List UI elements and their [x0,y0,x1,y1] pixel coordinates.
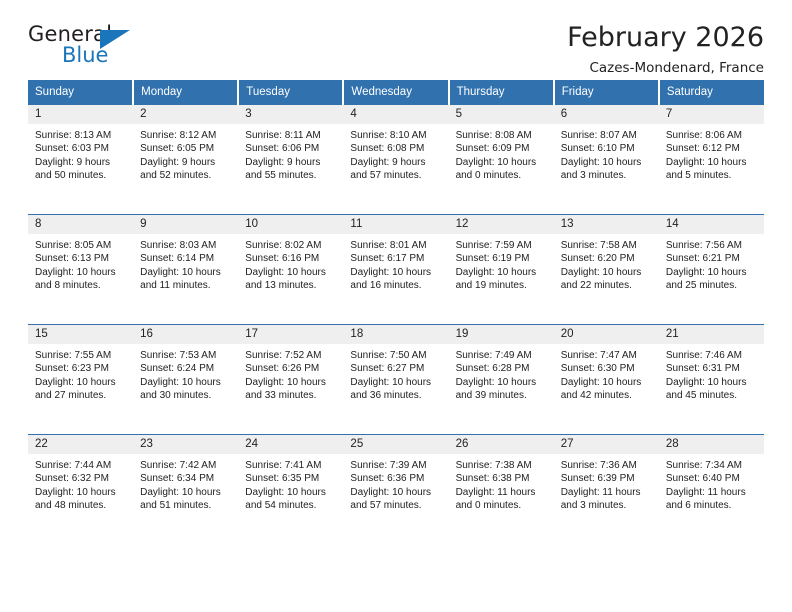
daylight-text-line1: Daylight: 10 hours [666,266,758,279]
calendar-day-cell[interactable]: 25 Sunrise: 7:39 AM Sunset: 6:36 PM Dayl… [343,435,448,545]
day-details: Sunrise: 7:34 AM Sunset: 6:40 PM Dayligh… [659,454,764,513]
calendar-day-cell[interactable]: 18 Sunrise: 7:50 AM Sunset: 6:27 PM Dayl… [343,325,448,435]
day-number: 8 [28,215,133,234]
day-details: Sunrise: 7:56 AM Sunset: 6:21 PM Dayligh… [659,234,764,293]
daylight-text-line2: and 57 minutes. [350,499,442,512]
day-number: 7 [659,105,764,124]
daylight-text-line1: Daylight: 9 hours [245,156,337,169]
daylight-text-line2: and 8 minutes. [35,279,127,292]
daylight-text-line2: and 33 minutes. [245,389,337,402]
sunrise-text: Sunrise: 8:13 AM [35,129,127,142]
sunset-text: Sunset: 6:28 PM [456,362,548,375]
daylight-text-line1: Daylight: 10 hours [140,266,232,279]
title-block: February 2026 Cazes-Mondenard, France [567,22,764,78]
sunset-text: Sunset: 6:03 PM [35,142,127,155]
daylight-text-line2: and 52 minutes. [140,169,232,182]
page-title: February 2026 [567,22,764,54]
sunrise-text: Sunrise: 7:42 AM [140,459,232,472]
day-details: Sunrise: 8:08 AM Sunset: 6:09 PM Dayligh… [449,124,554,183]
calendar-week-row: 8 Sunrise: 8:05 AM Sunset: 6:13 PM Dayli… [28,215,764,325]
daylight-text-line1: Daylight: 10 hours [350,376,442,389]
sunrise-text: Sunrise: 7:47 AM [561,349,653,362]
day-details: Sunrise: 8:10 AM Sunset: 6:08 PM Dayligh… [343,124,448,183]
calendar-week-row: 1 Sunrise: 8:13 AM Sunset: 6:03 PM Dayli… [28,105,764,215]
day-details: Sunrise: 7:53 AM Sunset: 6:24 PM Dayligh… [133,344,238,403]
calendar-day-cell[interactable]: 16 Sunrise: 7:53 AM Sunset: 6:24 PM Dayl… [133,325,238,435]
calendar-day-cell[interactable]: 9 Sunrise: 8:03 AM Sunset: 6:14 PM Dayli… [133,215,238,325]
sunset-text: Sunset: 6:16 PM [245,252,337,265]
sunrise-text: Sunrise: 8:12 AM [140,129,232,142]
daylight-text-line1: Daylight: 10 hours [350,486,442,499]
sunset-text: Sunset: 6:21 PM [666,252,758,265]
day-number: 9 [133,215,238,234]
sunrise-text: Sunrise: 8:11 AM [245,129,337,142]
sunset-text: Sunset: 6:20 PM [561,252,653,265]
daylight-text-line1: Daylight: 10 hours [35,266,127,279]
sunset-text: Sunset: 6:14 PM [140,252,232,265]
day-details: Sunrise: 7:58 AM Sunset: 6:20 PM Dayligh… [554,234,659,293]
day-details: Sunrise: 7:41 AM Sunset: 6:35 PM Dayligh… [238,454,343,513]
sunset-text: Sunset: 6:39 PM [561,472,653,485]
daylight-text-line1: Daylight: 11 hours [666,486,758,499]
daylight-text-line2: and 0 minutes. [456,499,548,512]
day-details: Sunrise: 7:47 AM Sunset: 6:30 PM Dayligh… [554,344,659,403]
daylight-text-line2: and 30 minutes. [140,389,232,402]
day-details: Sunrise: 7:42 AM Sunset: 6:34 PM Dayligh… [133,454,238,513]
weekday-header-saturday: Saturday [659,80,764,105]
sunrise-text: Sunrise: 7:36 AM [561,459,653,472]
sunrise-text: Sunrise: 8:02 AM [245,239,337,252]
day-number: 11 [343,215,448,234]
brand-name-blue: Blue [62,43,108,67]
sunrise-text: Sunrise: 7:49 AM [456,349,548,362]
calendar-day-cell[interactable]: 15 Sunrise: 7:55 AM Sunset: 6:23 PM Dayl… [28,325,133,435]
daylight-text-line1: Daylight: 10 hours [245,266,337,279]
sunrise-text: Sunrise: 7:41 AM [245,459,337,472]
sunrise-text: Sunrise: 8:01 AM [350,239,442,252]
day-number: 14 [659,215,764,234]
day-details: Sunrise: 7:46 AM Sunset: 6:31 PM Dayligh… [659,344,764,403]
daylight-text-line2: and 22 minutes. [561,279,653,292]
sunset-text: Sunset: 6:36 PM [350,472,442,485]
sunrise-text: Sunrise: 7:56 AM [666,239,758,252]
sunset-text: Sunset: 6:09 PM [456,142,548,155]
sunset-text: Sunset: 6:17 PM [350,252,442,265]
day-details: Sunrise: 8:07 AM Sunset: 6:10 PM Dayligh… [554,124,659,183]
day-number: 21 [659,325,764,344]
daylight-text-line2: and 6 minutes. [666,499,758,512]
page-subtitle: Cazes-Mondenard, France [567,58,764,78]
day-number: 23 [133,435,238,454]
day-number: 22 [28,435,133,454]
day-details: Sunrise: 8:12 AM Sunset: 6:05 PM Dayligh… [133,124,238,183]
weekday-header-sunday: Sunday [28,80,133,105]
daylight-text-line2: and 54 minutes. [245,499,337,512]
sunset-text: Sunset: 6:31 PM [666,362,758,375]
sunset-text: Sunset: 6:06 PM [245,142,337,155]
sunrise-text: Sunrise: 7:55 AM [35,349,127,362]
daylight-text-line2: and 0 minutes. [456,169,548,182]
sunrise-text: Sunrise: 8:03 AM [140,239,232,252]
calendar-page: General Blue February 2026 Cazes-Mondena… [0,0,792,612]
sunset-text: Sunset: 6:12 PM [666,142,758,155]
calendar-day-cell[interactable]: 11 Sunrise: 8:01 AM Sunset: 6:17 PM Dayl… [343,215,448,325]
daylight-text-line1: Daylight: 10 hours [561,266,653,279]
day-number: 6 [554,105,659,124]
calendar-day-cell[interactable]: 28 Sunrise: 7:34 AM Sunset: 6:40 PM Dayl… [659,435,764,545]
daylight-text-line2: and 16 minutes. [350,279,442,292]
day-details: Sunrise: 7:36 AM Sunset: 6:39 PM Dayligh… [554,454,659,513]
calendar-day-cell[interactable]: 4 Sunrise: 8:10 AM Sunset: 6:08 PM Dayli… [343,105,448,215]
daylight-text-line1: Daylight: 11 hours [456,486,548,499]
weekday-header-wednesday: Wednesday [343,80,448,105]
day-details: Sunrise: 7:52 AM Sunset: 6:26 PM Dayligh… [238,344,343,403]
daylight-text-line1: Daylight: 10 hours [456,156,548,169]
sunset-text: Sunset: 6:05 PM [140,142,232,155]
sunrise-text: Sunrise: 8:08 AM [456,129,548,142]
calendar-day-cell[interactable]: 26 Sunrise: 7:38 AM Sunset: 6:38 PM Dayl… [449,435,554,545]
sunrise-text: Sunrise: 7:38 AM [456,459,548,472]
day-number: 24 [238,435,343,454]
day-number: 13 [554,215,659,234]
daylight-text-line1: Daylight: 10 hours [666,156,758,169]
daylight-text-line1: Daylight: 10 hours [245,486,337,499]
sunrise-text: Sunrise: 7:59 AM [456,239,548,252]
daylight-text-line2: and 39 minutes. [456,389,548,402]
calendar-week-row: 15 Sunrise: 7:55 AM Sunset: 6:23 PM Dayl… [28,325,764,435]
daylight-text-line2: and 19 minutes. [456,279,548,292]
day-details: Sunrise: 8:13 AM Sunset: 6:03 PM Dayligh… [28,124,133,183]
day-number: 25 [343,435,448,454]
day-details: Sunrise: 7:38 AM Sunset: 6:38 PM Dayligh… [449,454,554,513]
daylight-text-line1: Daylight: 10 hours [35,376,127,389]
calendar-day-cell[interactable]: 21 Sunrise: 7:46 AM Sunset: 6:31 PM Dayl… [659,325,764,435]
daylight-text-line1: Daylight: 10 hours [666,376,758,389]
sunrise-text: Sunrise: 8:06 AM [666,129,758,142]
calendar-day-cell[interactable]: 6 Sunrise: 8:07 AM Sunset: 6:10 PM Dayli… [554,105,659,215]
daylight-text-line1: Daylight: 10 hours [456,266,548,279]
daylight-text-line1: Daylight: 10 hours [561,376,653,389]
daylight-text-line1: Daylight: 9 hours [140,156,232,169]
daylight-text-line1: Daylight: 10 hours [140,486,232,499]
calendar-body: 1 Sunrise: 8:13 AM Sunset: 6:03 PM Dayli… [28,105,764,545]
sunrise-text: Sunrise: 7:53 AM [140,349,232,362]
day-number: 27 [554,435,659,454]
day-number: 12 [449,215,554,234]
sunset-text: Sunset: 6:08 PM [350,142,442,155]
day-details: Sunrise: 8:11 AM Sunset: 6:06 PM Dayligh… [238,124,343,183]
daylight-text-line2: and 27 minutes. [35,389,127,402]
day-number: 5 [449,105,554,124]
daylight-text-line1: Daylight: 10 hours [350,266,442,279]
calendar-day-cell[interactable]: 22 Sunrise: 7:44 AM Sunset: 6:32 PM Dayl… [28,435,133,545]
day-number: 10 [238,215,343,234]
calendar-day-cell[interactable]: 1 Sunrise: 8:13 AM Sunset: 6:03 PM Dayli… [28,105,133,215]
daylight-text-line2: and 48 minutes. [35,499,127,512]
daylight-text-line2: and 36 minutes. [350,389,442,402]
sunrise-text: Sunrise: 7:58 AM [561,239,653,252]
daylight-text-line2: and 50 minutes. [35,169,127,182]
day-number: 2 [133,105,238,124]
daylight-text-line2: and 3 minutes. [561,169,653,182]
sunset-text: Sunset: 6:40 PM [666,472,758,485]
calendar-day-cell[interactable]: 24 Sunrise: 7:41 AM Sunset: 6:35 PM Dayl… [238,435,343,545]
calendar-day-cell[interactable]: 10 Sunrise: 8:02 AM Sunset: 6:16 PM Dayl… [238,215,343,325]
calendar-day-cell[interactable]: 12 Sunrise: 7:59 AM Sunset: 6:19 PM Dayl… [449,215,554,325]
day-number: 17 [238,325,343,344]
daylight-text-line2: and 55 minutes. [245,169,337,182]
day-number: 4 [343,105,448,124]
day-number: 16 [133,325,238,344]
sunset-text: Sunset: 6:10 PM [561,142,653,155]
calendar-header-row: Sunday Monday Tuesday Wednesday Thursday… [28,80,764,105]
calendar-day-cell[interactable]: 27 Sunrise: 7:36 AM Sunset: 6:39 PM Dayl… [554,435,659,545]
daylight-text-line1: Daylight: 9 hours [350,156,442,169]
calendar-table: Sunday Monday Tuesday Wednesday Thursday… [28,80,764,545]
calendar-day-cell[interactable]: 2 Sunrise: 8:12 AM Sunset: 6:05 PM Dayli… [133,105,238,215]
day-number: 26 [449,435,554,454]
day-number: 3 [238,105,343,124]
sunset-text: Sunset: 6:35 PM [245,472,337,485]
daylight-text-line2: and 51 minutes. [140,499,232,512]
day-number: 1 [28,105,133,124]
calendar-day-cell[interactable]: 20 Sunrise: 7:47 AM Sunset: 6:30 PM Dayl… [554,325,659,435]
sunrise-text: Sunrise: 8:10 AM [350,129,442,142]
sunrise-text: Sunrise: 7:46 AM [666,349,758,362]
sunrise-text: Sunrise: 8:07 AM [561,129,653,142]
weekday-header-monday: Monday [133,80,238,105]
daylight-text-line1: Daylight: 11 hours [561,486,653,499]
sunset-text: Sunset: 6:23 PM [35,362,127,375]
daylight-text-line2: and 11 minutes. [140,279,232,292]
sunset-text: Sunset: 6:32 PM [35,472,127,485]
daylight-text-line2: and 25 minutes. [666,279,758,292]
day-details: Sunrise: 8:01 AM Sunset: 6:17 PM Dayligh… [343,234,448,293]
sunset-text: Sunset: 6:38 PM [456,472,548,485]
daylight-text-line2: and 13 minutes. [245,279,337,292]
day-details: Sunrise: 7:50 AM Sunset: 6:27 PM Dayligh… [343,344,448,403]
daylight-text-line1: Daylight: 10 hours [245,376,337,389]
daylight-text-line1: Daylight: 9 hours [35,156,127,169]
daylight-text-line2: and 5 minutes. [666,169,758,182]
daylight-text-line2: and 42 minutes. [561,389,653,402]
sunrise-text: Sunrise: 8:05 AM [35,239,127,252]
daylight-text-line1: Daylight: 10 hours [561,156,653,169]
daylight-text-line1: Daylight: 10 hours [35,486,127,499]
day-number: 15 [28,325,133,344]
page-header: General Blue February 2026 Cazes-Mondena… [28,0,764,74]
day-details: Sunrise: 7:44 AM Sunset: 6:32 PM Dayligh… [28,454,133,513]
sunset-text: Sunset: 6:27 PM [350,362,442,375]
day-details: Sunrise: 8:06 AM Sunset: 6:12 PM Dayligh… [659,124,764,183]
calendar-day-cell[interactable]: 23 Sunrise: 7:42 AM Sunset: 6:34 PM Dayl… [133,435,238,545]
calendar-week-row: 22 Sunrise: 7:44 AM Sunset: 6:32 PM Dayl… [28,435,764,545]
day-details: Sunrise: 7:39 AM Sunset: 6:36 PM Dayligh… [343,454,448,513]
brand-logo[interactable]: General Blue [28,22,228,74]
daylight-text-line1: Daylight: 10 hours [140,376,232,389]
sunset-text: Sunset: 6:34 PM [140,472,232,485]
calendar-day-cell[interactable]: 13 Sunrise: 7:58 AM Sunset: 6:20 PM Dayl… [554,215,659,325]
day-details: Sunrise: 8:02 AM Sunset: 6:16 PM Dayligh… [238,234,343,293]
weekday-header-tuesday: Tuesday [238,80,343,105]
daylight-text-line1: Daylight: 10 hours [456,376,548,389]
sunset-text: Sunset: 6:13 PM [35,252,127,265]
daylight-text-line2: and 57 minutes. [350,169,442,182]
sunrise-text: Sunrise: 7:52 AM [245,349,337,362]
daylight-text-line2: and 3 minutes. [561,499,653,512]
daylight-text-line2: and 45 minutes. [666,389,758,402]
sunset-text: Sunset: 6:24 PM [140,362,232,375]
sunrise-text: Sunrise: 7:44 AM [35,459,127,472]
day-details: Sunrise: 8:05 AM Sunset: 6:13 PM Dayligh… [28,234,133,293]
day-number: 19 [449,325,554,344]
day-number: 28 [659,435,764,454]
calendar-day-cell[interactable]: 17 Sunrise: 7:52 AM Sunset: 6:26 PM Dayl… [238,325,343,435]
day-number: 20 [554,325,659,344]
calendar-day-cell[interactable]: 7 Sunrise: 8:06 AM Sunset: 6:12 PM Dayli… [659,105,764,215]
day-details: Sunrise: 7:59 AM Sunset: 6:19 PM Dayligh… [449,234,554,293]
sunrise-text: Sunrise: 7:34 AM [666,459,758,472]
sunset-text: Sunset: 6:26 PM [245,362,337,375]
weekday-header-friday: Friday [554,80,659,105]
calendar-day-cell[interactable]: 3 Sunrise: 8:11 AM Sunset: 6:06 PM Dayli… [238,105,343,215]
sunset-text: Sunset: 6:19 PM [456,252,548,265]
sunset-text: Sunset: 6:30 PM [561,362,653,375]
day-details: Sunrise: 7:55 AM Sunset: 6:23 PM Dayligh… [28,344,133,403]
calendar-day-cell[interactable]: 19 Sunrise: 7:49 AM Sunset: 6:28 PM Dayl… [449,325,554,435]
weekday-header-thursday: Thursday [449,80,554,105]
day-details: Sunrise: 7:49 AM Sunset: 6:28 PM Dayligh… [449,344,554,403]
calendar-day-cell[interactable]: 8 Sunrise: 8:05 AM Sunset: 6:13 PM Dayli… [28,215,133,325]
calendar-day-cell[interactable]: 5 Sunrise: 8:08 AM Sunset: 6:09 PM Dayli… [449,105,554,215]
calendar-day-cell[interactable]: 14 Sunrise: 7:56 AM Sunset: 6:21 PM Dayl… [659,215,764,325]
sunrise-text: Sunrise: 7:39 AM [350,459,442,472]
sunrise-text: Sunrise: 7:50 AM [350,349,442,362]
day-details: Sunrise: 8:03 AM Sunset: 6:14 PM Dayligh… [133,234,238,293]
day-number: 18 [343,325,448,344]
